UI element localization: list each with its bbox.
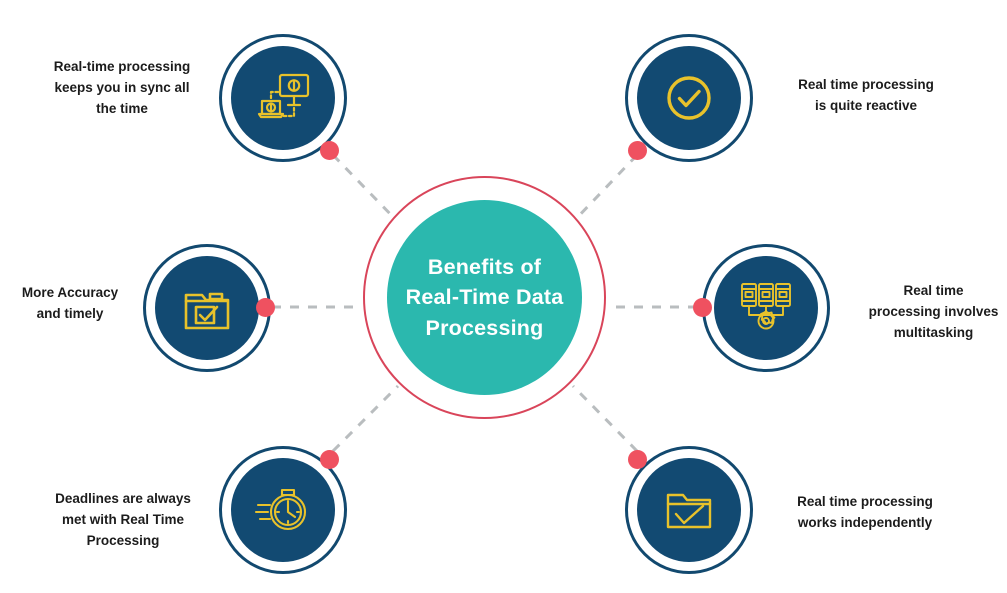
check-circle-icon — [660, 69, 718, 127]
connector-line-top-right — [573, 155, 637, 222]
connector-dot-middle-right — [693, 298, 712, 317]
benefits-infographic: Benefits of Real-Time Data Processing — [0, 0, 1007, 593]
connector-dot-top-left — [320, 141, 339, 160]
servers-gear-icon — [736, 278, 796, 338]
connector-line-bottom-left — [333, 386, 398, 451]
node-independent-disc — [637, 458, 741, 562]
connector-line-top-left — [333, 155, 398, 222]
label-reactive: Real time processing is quite reactive — [768, 75, 964, 117]
label-multitasking: Real time processing involves multitaski… — [860, 281, 1007, 344]
node-accuracy-disc — [155, 256, 259, 360]
node-reactive-disc — [637, 46, 741, 150]
folder-check-icon — [660, 481, 718, 539]
node-multitasking-disc — [714, 256, 818, 360]
connector-dot-top-right — [628, 141, 647, 160]
center-core: Benefits of Real-Time Data Processing — [387, 200, 582, 395]
label-sync: Real-time processing keeps you in sync a… — [24, 57, 220, 120]
label-deadlines: Deadlines are always met with Real Time … — [28, 489, 218, 552]
connector-dot-bottom-left — [320, 450, 339, 469]
node-multitasking[interactable] — [702, 244, 830, 372]
label-independent: Real time processing works independently — [760, 492, 970, 534]
label-accuracy: More Accuracy and timely — [0, 283, 140, 325]
center-hub: Benefits of Real-Time Data Processing — [363, 176, 606, 419]
node-accuracy[interactable] — [143, 244, 271, 372]
node-sync-disc — [231, 46, 335, 150]
connector-dot-middle-left — [256, 298, 275, 317]
connector-line-bottom-right — [573, 386, 637, 451]
center-title: Benefits of Real-Time Data Processing — [398, 252, 572, 344]
folder-checkbox-icon — [178, 279, 236, 337]
fast-stopwatch-icon — [252, 479, 314, 541]
node-deadlines-disc — [231, 458, 335, 562]
devices-sync-icon — [252, 67, 314, 129]
connector-dot-bottom-right — [628, 450, 647, 469]
